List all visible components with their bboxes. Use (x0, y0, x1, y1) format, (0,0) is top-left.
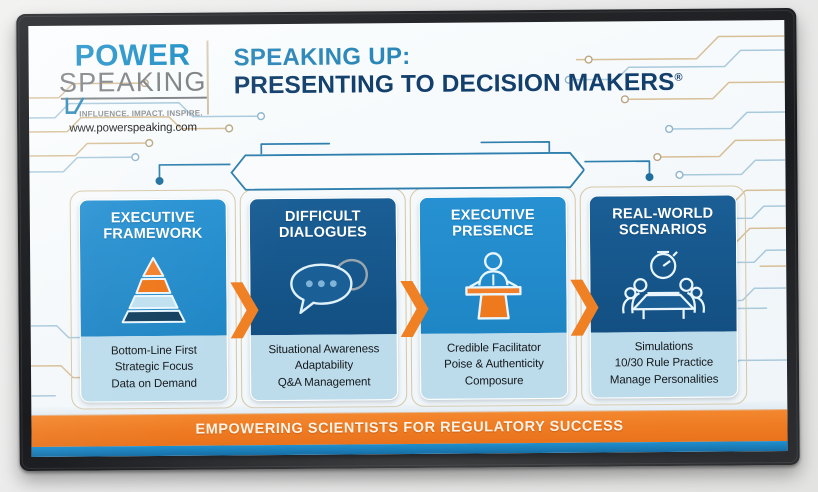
header: POWER SPEAKING INFLUENCE. IMPACT. INSPIR… (28, 20, 785, 134)
card-bullets: Bottom-Line First Strategic Focus Data o… (81, 335, 228, 401)
card-title: DIFFICULT DIALOGUES (279, 209, 367, 241)
pyramid-icon (80, 242, 227, 337)
bottom-banner: EMPOWERING SCIENTISTS FOR REGULATORY SUC… (31, 409, 787, 457)
card-header: EXECUTIVE FRAMEWORK (80, 199, 227, 336)
card-header: DIFFICULT DIALOGUES (250, 198, 397, 335)
screen: POWER SPEAKING INFLUENCE. IMPACT. INSPIR… (28, 20, 787, 457)
card-bullets: Credible Facilitator Poise & Authenticit… (421, 333, 568, 399)
card-title-line2: DIALOGUES (279, 224, 367, 241)
card-title-line2: SCENARIOS (619, 221, 707, 238)
arrow-connector-3 (569, 277, 599, 337)
card-bullets: Simulations 10/30 Rule Practice Manage P… (591, 331, 738, 397)
framework-badge-wrap: SCIENTIST SUCCESS FRAMEWORK (29, 150, 785, 187)
card-executive-presence[interactable]: EXECUTIVE PRESENCE (419, 196, 569, 400)
card-bullet: Data on Demand (85, 375, 223, 392)
title-line-one: SPEAKING UP: (233, 43, 682, 71)
card-header: EXECUTIVE PRESENCE (420, 197, 567, 334)
card-bullet: Simulations (595, 338, 733, 355)
card-title-line1: EXECUTIVE (451, 207, 535, 224)
card-bullet: Strategic Focus (85, 359, 223, 376)
powerspeaking-logo[interactable]: POWER SPEAKING INFLUENCE. IMPACT. INSPIR… (28, 25, 207, 135)
card-title-line2: FRAMEWORK (103, 225, 202, 242)
card-bullet: Situational Awareness (255, 341, 393, 358)
card-bullet: Bottom-Line First (85, 342, 223, 359)
framework-badge-label: SCIENTIST SUCCESS FRAMEWORK (256, 157, 559, 179)
card-real-world-scenarios[interactable]: REAL-WORLD SCENARIOS (589, 194, 739, 398)
card-title: EXECUTIVE PRESENCE (451, 208, 535, 240)
arrow-connector-1 (229, 280, 259, 340)
registered-mark: ® (674, 72, 682, 84)
monitor-bezel: POWER SPEAKING INFLUENCE. IMPACT. INSPIR… (16, 8, 800, 471)
card-title-line2: PRESENCE (452, 223, 533, 240)
arrow-connector-2 (399, 279, 429, 339)
banner-label: EMPOWERING SCIENTISTS FOR REGULATORY SUC… (195, 418, 623, 437)
card-title-line1: REAL-WORLD (612, 206, 713, 223)
card-bullet: Credible Facilitator (425, 340, 563, 357)
card-header: REAL-WORLD SCENARIOS (590, 195, 737, 332)
website-url[interactable]: www.powerspeaking.com (59, 121, 207, 134)
logo-word-speaking: SPEAKING (59, 68, 207, 96)
card-bullet: Adaptability (255, 357, 393, 374)
card-difficult-dialogues[interactable]: DIFFICULT DIALOGUES (249, 197, 399, 401)
card-bullet: Manage Personalities (595, 371, 733, 388)
card-title-line1: EXECUTIVE (111, 210, 195, 227)
podium-speaker-icon (420, 239, 567, 334)
framework-badge: SCIENTIST SUCCESS FRAMEWORK (230, 152, 585, 186)
speech-bubbles-icon (250, 240, 397, 335)
card-title: REAL-WORLD SCENARIOS (612, 207, 713, 239)
framework-cards: EXECUTIVE FRAMEWORK (30, 194, 788, 403)
card-title-line1: DIFFICULT (285, 208, 361, 225)
page-title: SPEAKING UP: PRESENTING TO DECISION MAKE… (208, 21, 683, 100)
title-line-two: PRESENTING TO DECISION MAKERS® (234, 70, 683, 99)
card-bullet: Composure (425, 372, 563, 389)
title-line-two-text: PRESENTING TO DECISION MAKERS (234, 69, 675, 99)
card-bullet: Poise & Authenticity (425, 356, 563, 373)
stopwatch-team-table-icon (590, 238, 737, 333)
logo-checkmark-icon (59, 96, 207, 110)
card-bullets: Situational Awareness Adaptability Q&A M… (251, 334, 398, 400)
card-bullet: 10/30 Rule Practice (595, 355, 733, 372)
desk-scene: POWER SPEAKING INFLUENCE. IMPACT. INSPIR… (0, 0, 818, 492)
card-bullet: Q&A Management (255, 374, 393, 391)
card-title: EXECUTIVE FRAMEWORK (103, 211, 203, 243)
card-executive-framework[interactable]: EXECUTIVE FRAMEWORK (79, 198, 229, 402)
